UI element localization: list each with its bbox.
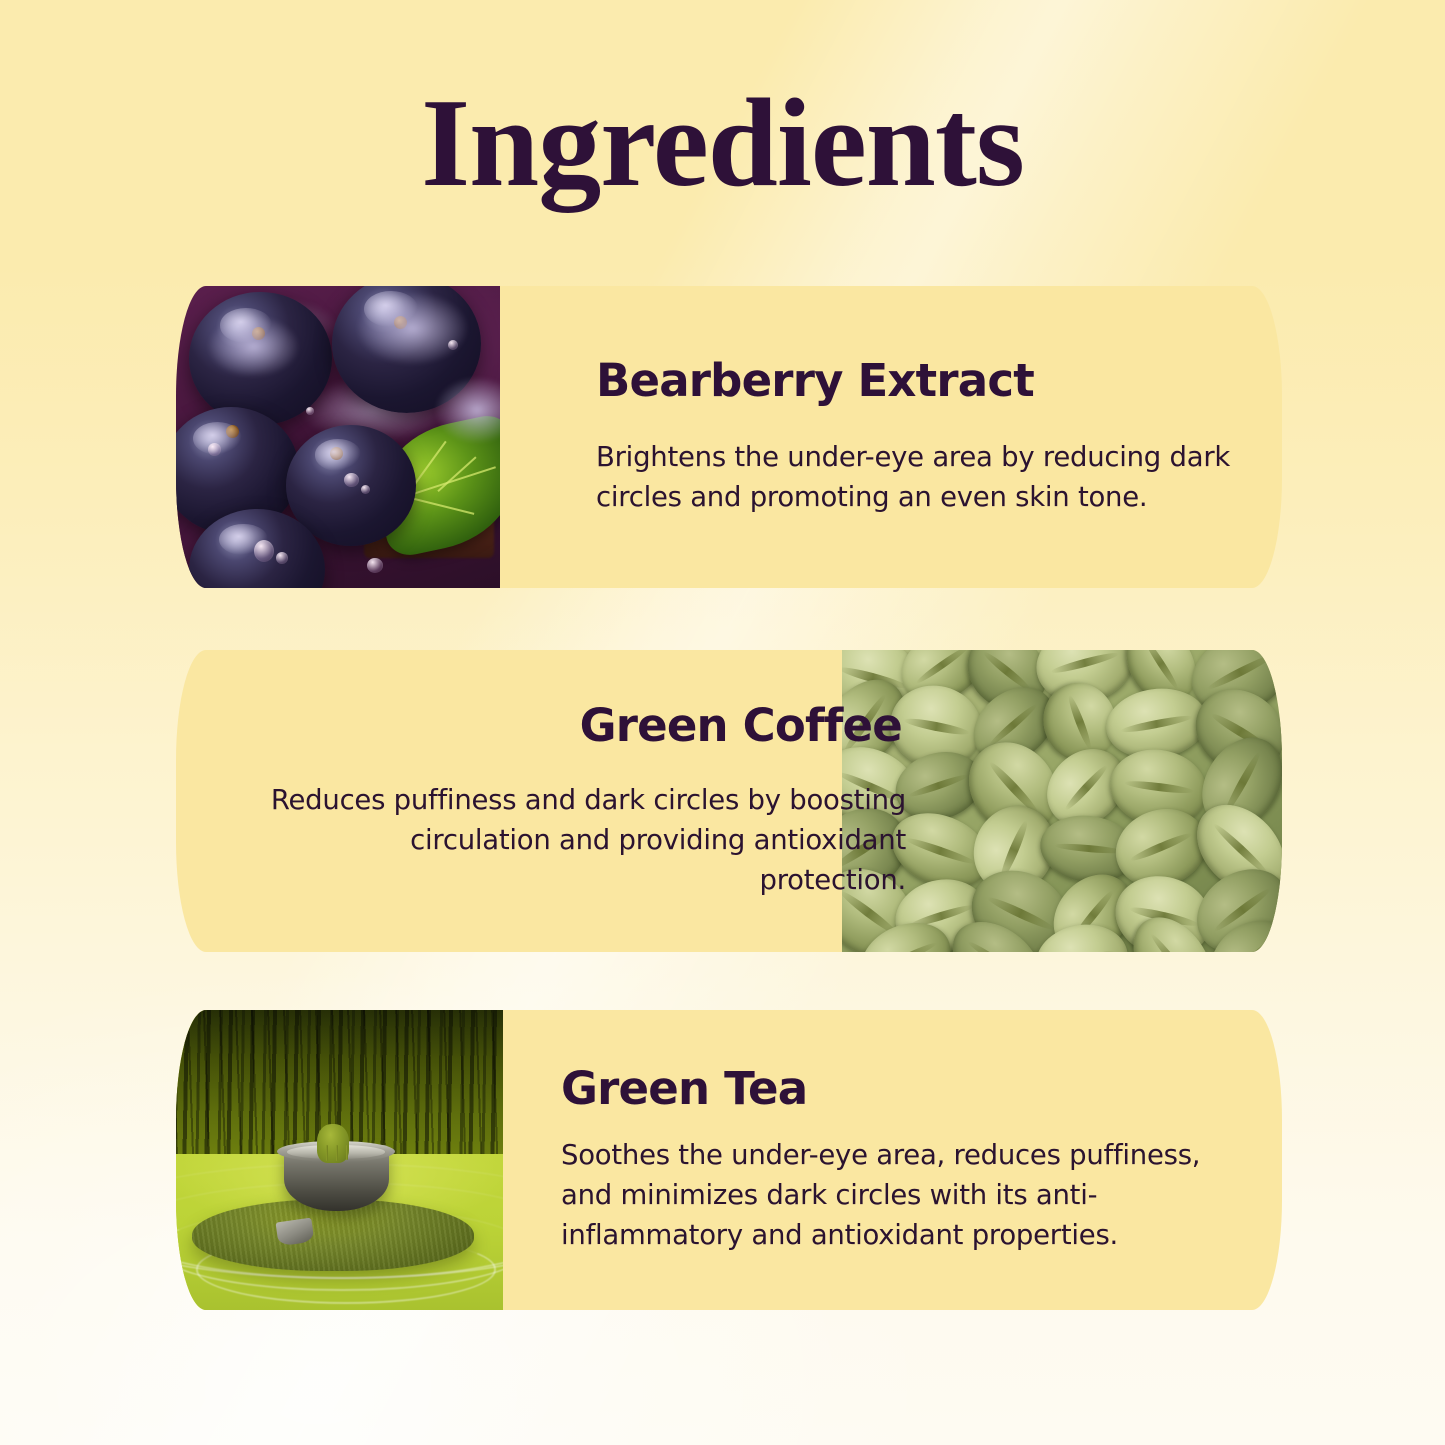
ingredient-description: Brightens the under-eye area by reducing…	[596, 438, 1236, 517]
ingredient-card-green-coffee: Green Coffee Reduces puffiness and dark …	[176, 650, 1282, 952]
card-panel: Bearberry Extract Brightens the under-ey…	[176, 286, 1282, 588]
green-tea-image	[176, 1010, 503, 1310]
card-panel: Green Tea Soothes the under-eye area, re…	[176, 1010, 1282, 1310]
ingredient-card-bearberry-extract: Bearberry Extract Brightens the under-ey…	[176, 286, 1282, 588]
ingredient-name: Green Coffee	[580, 702, 902, 750]
bearberry-text-block: Bearberry Extract Brightens the under-ey…	[596, 286, 1236, 588]
card-panel: Green Coffee Reduces puffiness and dark …	[176, 650, 1282, 952]
ingredient-name: Green Tea	[561, 1065, 1221, 1113]
ingredient-description: Soothes the under-eye area, reduces puff…	[561, 1136, 1221, 1255]
ingredient-card-green-tea: Green Tea Soothes the under-eye area, re…	[176, 1010, 1282, 1310]
green-tea-text-block: Green Tea Soothes the under-eye area, re…	[561, 1010, 1221, 1310]
ingredient-name: Bearberry Extract	[596, 357, 1236, 405]
green-coffee-text-block: Green Coffee Reduces puffiness and dark …	[266, 650, 906, 952]
ingredient-description: Reduces puffiness and dark circles by bo…	[266, 781, 906, 900]
matcha-whisk	[317, 1124, 350, 1163]
berry-photo-art	[176, 286, 500, 588]
page-title: Ingredients	[0, 78, 1445, 210]
bearberry-image	[176, 286, 500, 588]
green-coffee-image	[842, 650, 1282, 952]
coffee-beans-photo-art	[842, 650, 1282, 952]
matcha-photo-art	[176, 1010, 503, 1310]
